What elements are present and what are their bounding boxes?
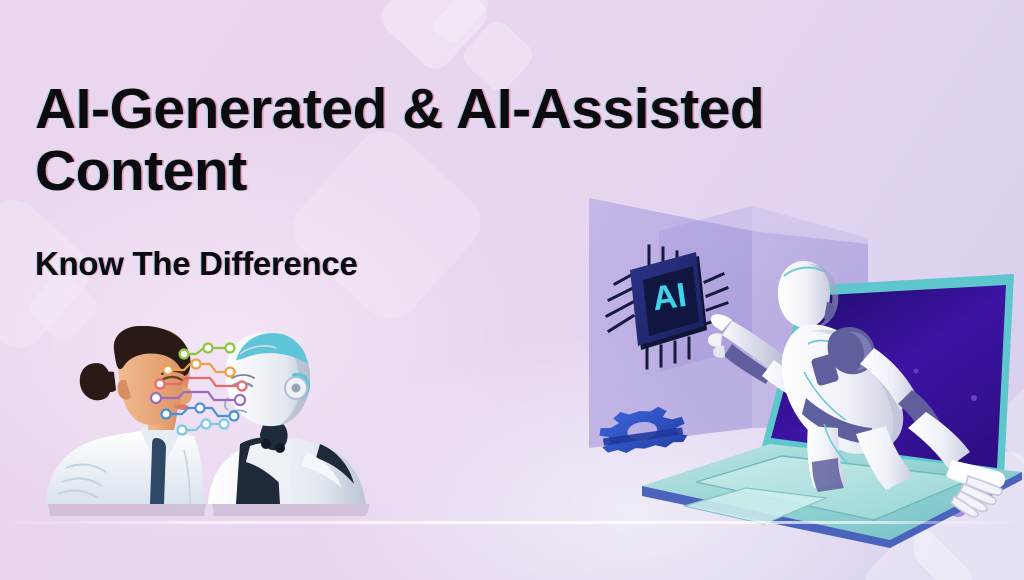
human-robot-link-illustration: [44, 326, 374, 526]
headline-block: AI-Generated & AI-Assisted Content Know …: [35, 78, 935, 283]
headline-line-2: Content: [35, 139, 247, 203]
ai-content-banner: AI: [0, 0, 1024, 580]
accent-divider-line: [0, 521, 1024, 524]
headline-line-1: AI-Generated & AI-Assisted: [35, 77, 764, 141]
decor-shape-top-a: [375, 0, 494, 75]
page-title: AI-Generated & AI-Assisted Content: [35, 78, 935, 202]
decor-shape-top-c: [430, 0, 491, 46]
page-subtitle: Know The Difference: [35, 245, 935, 283]
